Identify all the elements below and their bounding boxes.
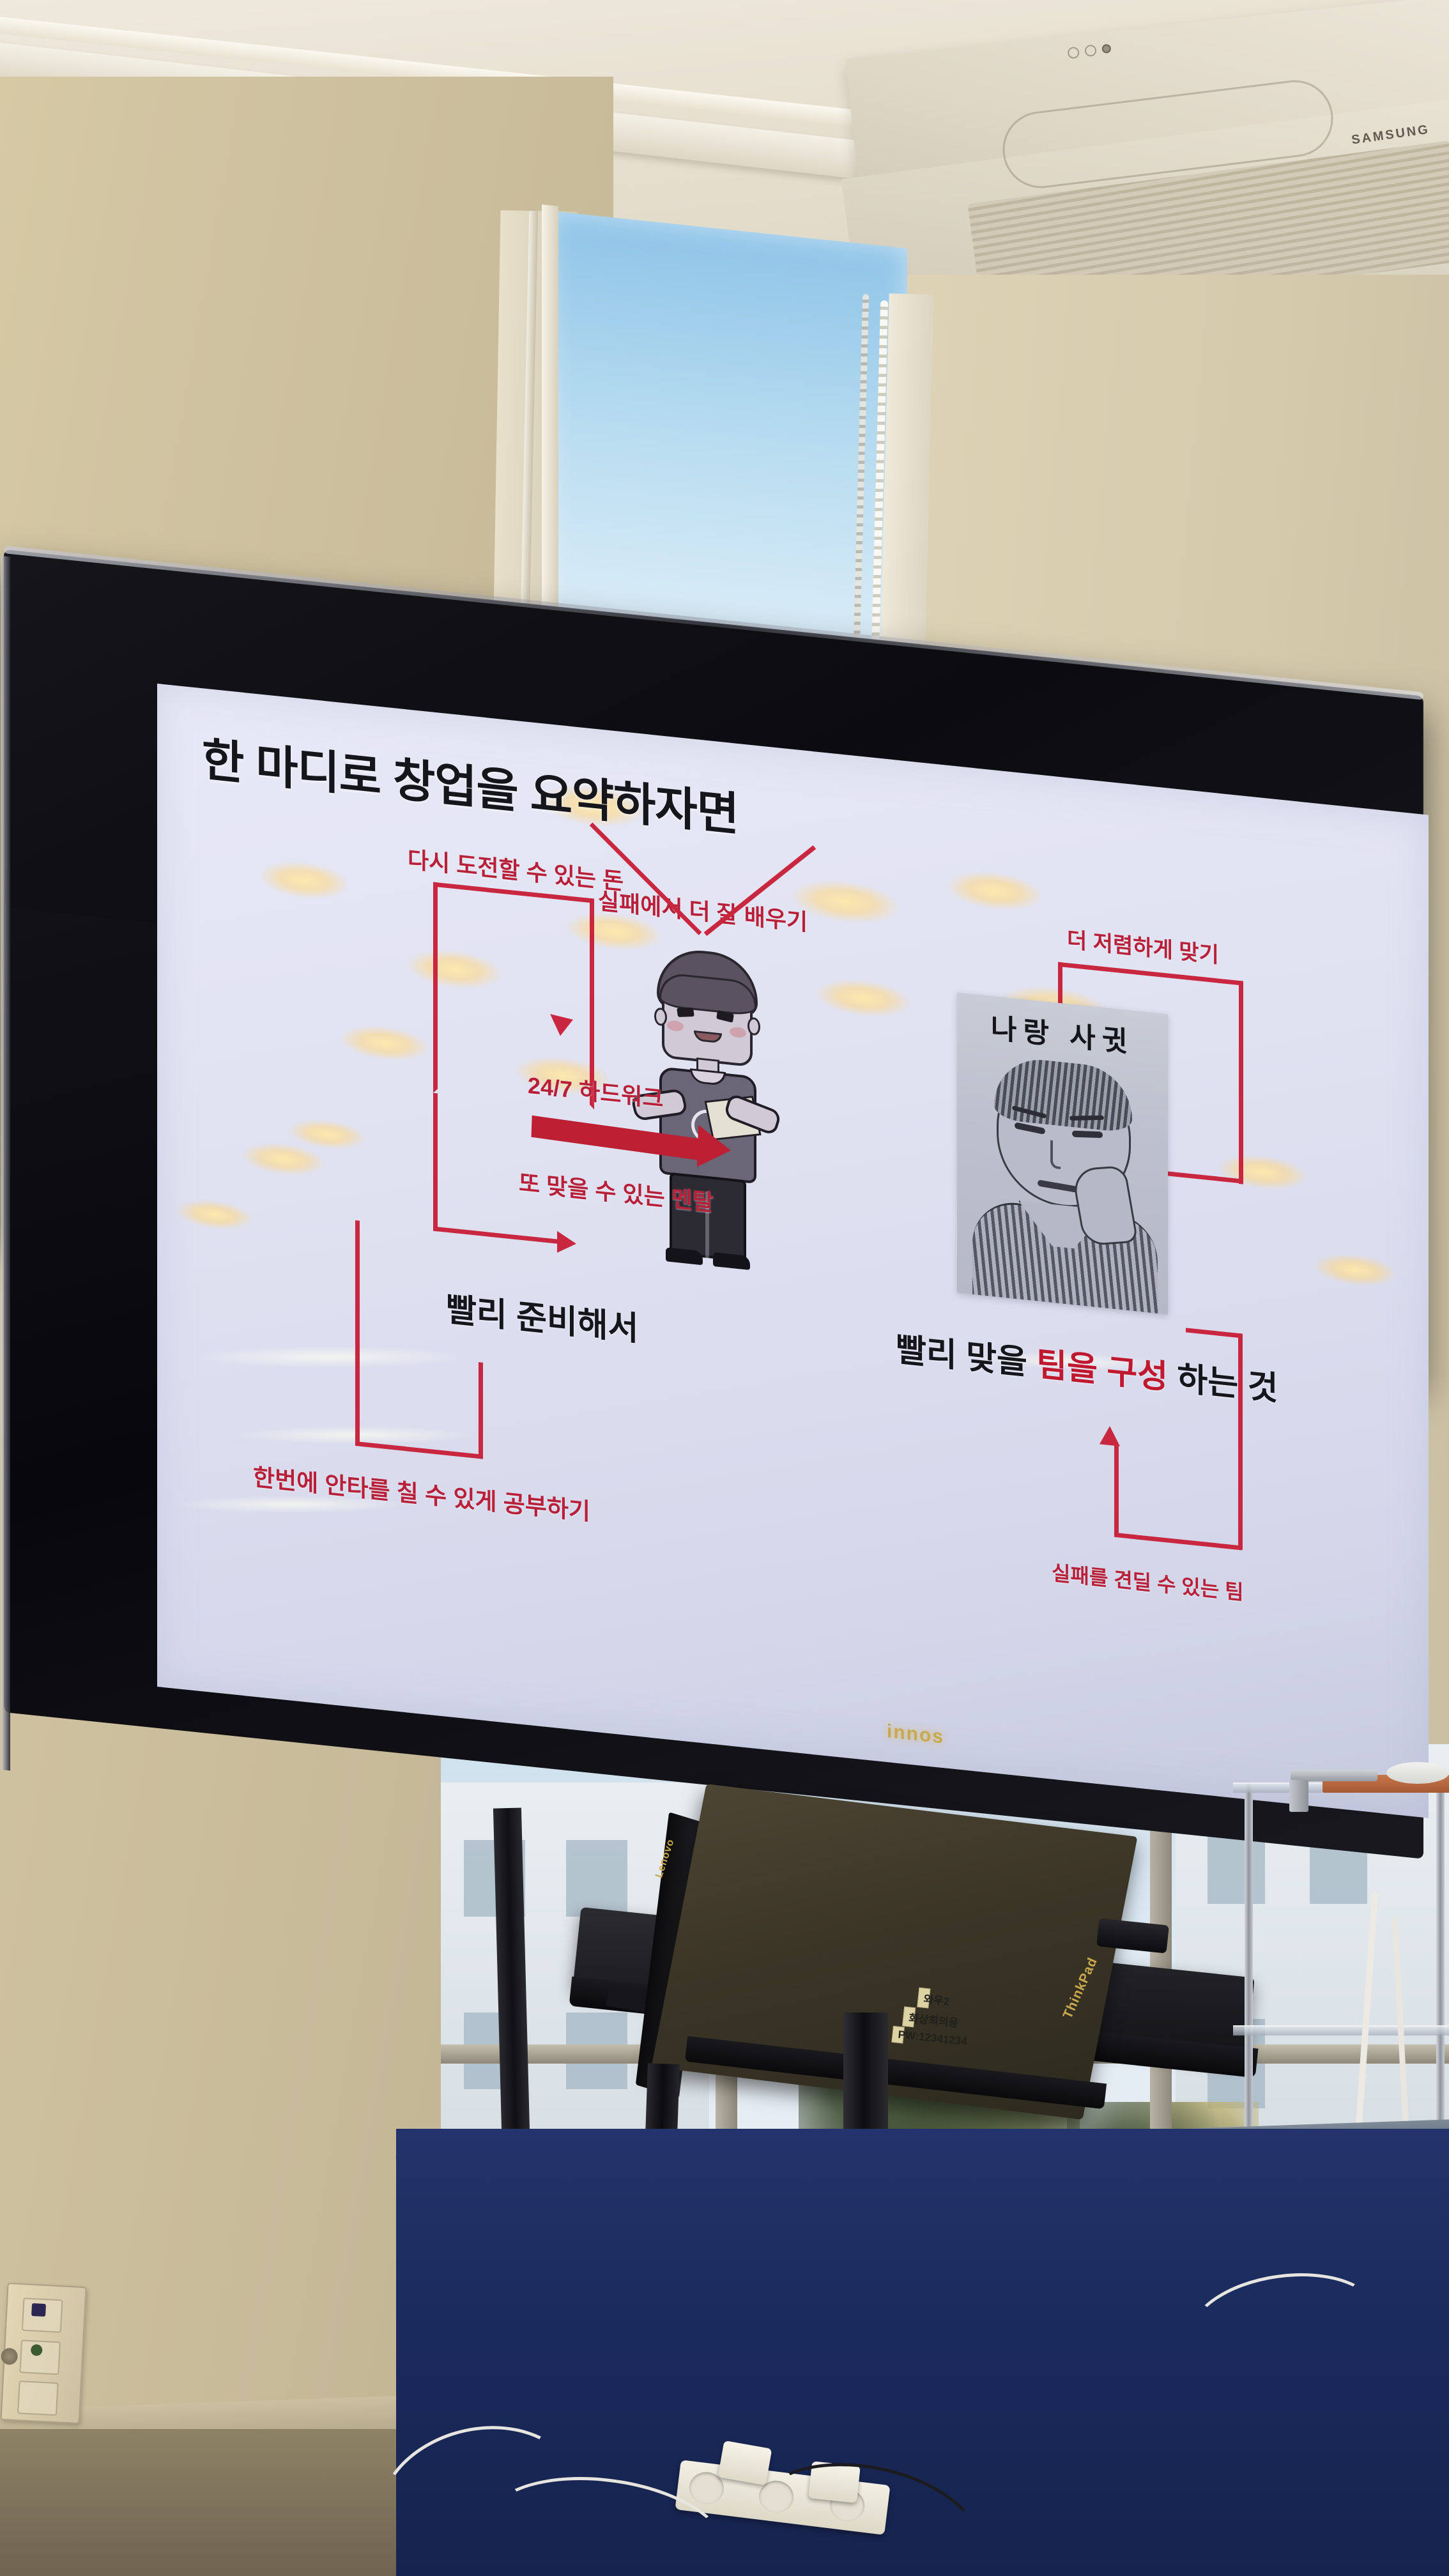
television: 한 마디로 창업을 요약하자면 다시 도전할 수 있는 돈 실패에서 더 잘 배… — [0, 549, 1449, 1853]
meme-caption: 나랑 사귓 — [957, 1001, 1168, 1064]
bracket-bottom-left-bottom — [355, 1441, 483, 1459]
rack-shelf-middle — [1233, 2025, 1449, 2035]
label-study-one-hit: 한번에 안타를 칠 수 있게 공부하기 — [253, 1458, 590, 1528]
sticker-line-3: PW:12341234 — [891, 2026, 905, 2044]
tv-left-edge — [1, 556, 10, 1770]
arrow-hardwork-head — [697, 1125, 732, 1172]
presentation-slide: 한 마디로 창업을 요약하자면 다시 도전할 수 있는 돈 실패에서 더 잘 배… — [157, 684, 1429, 1818]
bracket-bottom-left-up — [479, 1362, 483, 1459]
bracket-top-left-foot — [433, 1227, 561, 1245]
room-photo-scene: SAMSUNG — [0, 0, 1449, 2576]
label-team-endure-failure: 실패를 견딜 수 있는 팀 — [1052, 1557, 1244, 1606]
arrow-head-up-to-team — [1100, 1425, 1120, 1446]
rack-shelf-top — [1233, 1782, 1449, 1793]
bracket-bottom-left-side — [355, 1220, 360, 1446]
statement-prepare-fast: 빨리 준비해서 — [446, 1282, 639, 1350]
meme-image: 나랑 사귓 — [957, 992, 1168, 1314]
bracket-bottom-right-bottom — [1114, 1533, 1242, 1551]
rack-plate — [1386, 1762, 1449, 1784]
statement-build-team-part1: 빨리 맞을 — [896, 1331, 1036, 1383]
bracket-bottom-right-side — [1238, 1333, 1243, 1550]
arrow-head-right-to-character — [557, 1231, 576, 1255]
label-cheaper-hits: 더 저렴하게 맞기 — [1067, 922, 1219, 969]
wall-outlet-plate — [0, 2283, 86, 2424]
coax-port-icon — [1, 2348, 18, 2365]
bracket-bottom-right-up — [1114, 1446, 1119, 1537]
network-port-icon — [31, 2303, 46, 2317]
sticker-line-1: 와우2 — [917, 1988, 930, 2009]
label-learn-from-failure: 실패에서 더 잘 배우기 — [598, 882, 808, 937]
bracket-top-left-tail — [433, 1093, 438, 1232]
bracket-bottom-right-top — [1186, 1328, 1242, 1338]
statement-build-team-highlight: 팀을 구성 — [1036, 1345, 1168, 1396]
slide-title: 한 마디로 창업을 요약하자면 — [202, 721, 739, 844]
statement-build-team-part2: 하는 것 — [1168, 1359, 1278, 1407]
faucet-base — [1289, 1780, 1308, 1812]
sticker-line-2: 화상회의용 — [902, 2007, 916, 2028]
bracket-top-right-side — [1239, 981, 1243, 1184]
